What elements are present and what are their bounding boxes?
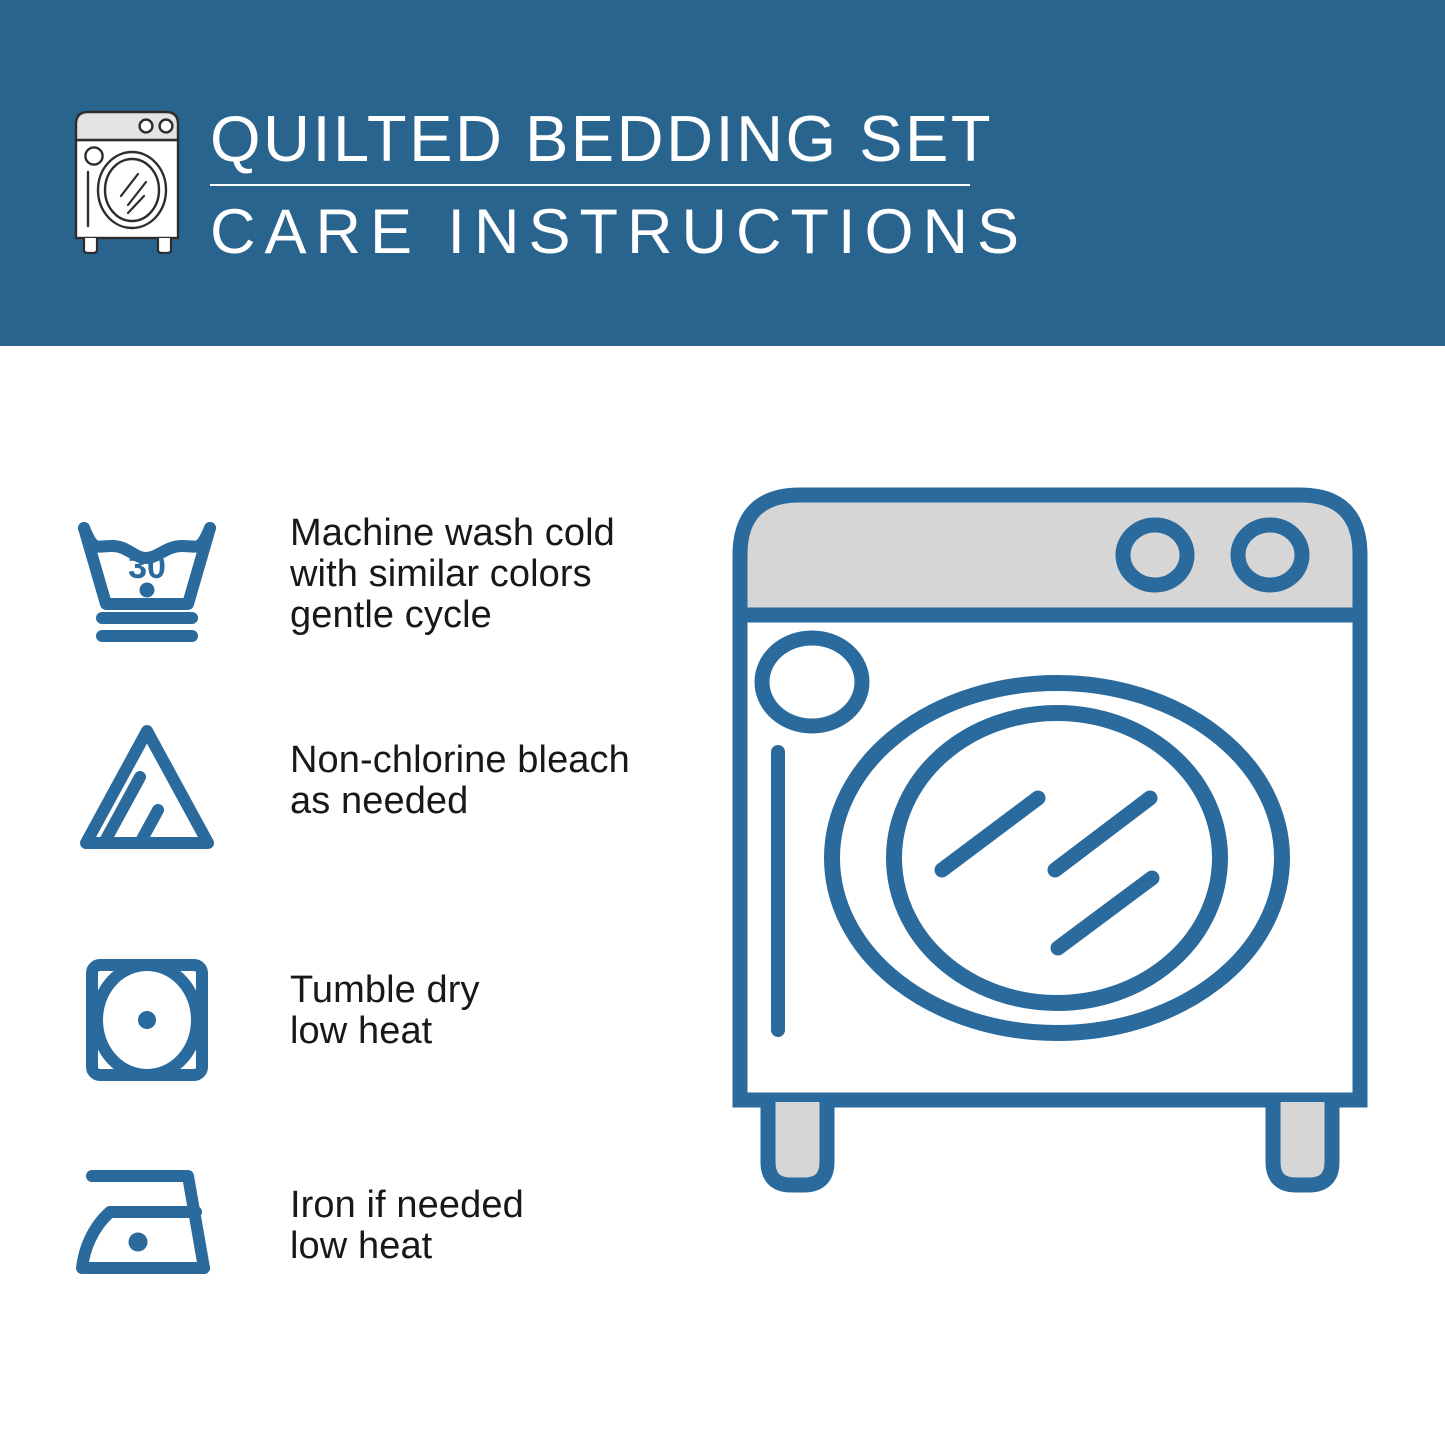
front-load-washing-machine-illustration (700, 470, 1400, 1370)
care-instruction-list: 30 Machine wash cold with similar colors… (0, 0, 700, 1445)
care-text-line: Non-chlorine bleach (290, 740, 630, 781)
tumble-dry-low-icon (72, 945, 222, 1095)
care-instructions-infographic: QUILTED BEDDING SET CARE INSTRUCTIONS 30 (0, 0, 1445, 1445)
knob-right (1238, 525, 1302, 585)
care-text-tumble-dry: Tumble dry low heat (290, 970, 480, 1052)
care-text-line: Machine wash cold (290, 513, 615, 554)
leg-right (1273, 1102, 1332, 1185)
care-text-bleach: Non-chlorine bleach as needed (290, 740, 630, 822)
iron-low-heat-icon (72, 1150, 222, 1300)
care-text-line: as needed (290, 781, 630, 822)
knob-left (1123, 525, 1187, 585)
tumble-dry-dot (138, 1011, 156, 1029)
wash-tub-30-icon: 30 (72, 500, 222, 650)
iron-dot (129, 1233, 148, 1252)
care-text-line: Tumble dry (290, 970, 480, 1011)
leg-left (768, 1102, 827, 1185)
wash-temperature-label: 30 (128, 548, 166, 586)
wash-dot (140, 583, 155, 598)
care-text-line: gentle cycle (290, 595, 615, 636)
non-chlorine-bleach-triangle-icon (72, 715, 222, 865)
care-text-line: low heat (290, 1226, 524, 1267)
care-text-line: with similar colors (290, 554, 615, 595)
care-text-line: Iron if needed (290, 1185, 524, 1226)
care-text-iron: Iron if needed low heat (290, 1185, 524, 1267)
care-text-line: low heat (290, 1011, 480, 1052)
care-text-machine-wash: Machine wash cold with similar colors ge… (290, 513, 615, 636)
